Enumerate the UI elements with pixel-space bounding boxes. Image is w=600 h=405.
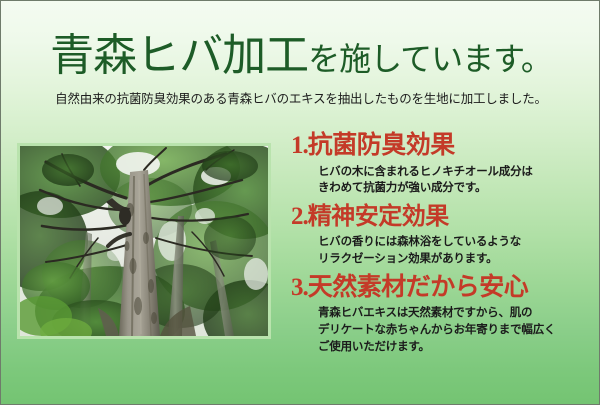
benefit-heading: 2.精神安定効果 <box>291 202 591 232</box>
benefit-body: 青森ヒバエキスは天然素材ですから、肌の デリケートな赤ちゃんからお年寄りまで幅広… <box>318 305 591 355</box>
list-item: 2.精神安定効果 ヒバの香りには森林浴をしているような リラクゼーション効果があ… <box>291 202 591 268</box>
forest-canopy-illustration <box>20 146 268 336</box>
benefit-body-line: デリケートな赤ちゃんからお年寄りまで幅広く <box>318 322 591 339</box>
benefit-body-line: きわめて抗菌力が強い成分です。 <box>318 180 591 197</box>
benefits-list: 1.抗菌防臭効果 ヒバの木に含まれるヒノキチオール成分は きわめて抗菌力が強い成… <box>291 131 591 360</box>
page-title: 青森ヒバ加工を施しています。 <box>1 34 600 78</box>
benefit-body-line: ヒバの香りには森林浴をしているような <box>318 234 591 251</box>
benefit-number: 1. <box>291 132 308 159</box>
page-subtitle: 自然由来の抗菌防臭効果のある青森ヒバのエキスを抽出したものを生地に加工しました。 <box>1 88 600 107</box>
benefit-title: 精神安定効果 <box>308 204 449 230</box>
benefit-number: 3. <box>291 274 308 301</box>
promotional-poster: 青森ヒバ加工を施しています。 自然由来の抗菌防臭効果のある青森ヒバのエキスを抽出… <box>0 0 600 405</box>
benefit-heading: 3.天然素材だから安心 <box>291 273 591 303</box>
benefit-title: 抗菌防臭効果 <box>308 132 455 159</box>
benefit-heading: 1.抗菌防臭効果 <box>291 131 591 161</box>
benefit-body-line: リラクゼーション効果があります。 <box>318 251 591 268</box>
list-item: 1.抗菌防臭効果 ヒバの木に含まれるヒノキチオール成分は きわめて抗菌力が強い成… <box>291 131 591 197</box>
benefit-body-line: ご使用いただけます。 <box>318 339 591 356</box>
benefit-body: ヒバの香りには森林浴をしているような リラクゼーション効果があります。 <box>318 234 591 267</box>
benefit-body: ヒバの木に含まれるヒノキチオール成分は きわめて抗菌力が強い成分です。 <box>318 164 591 197</box>
benefit-number: 2. <box>291 203 308 230</box>
list-item: 3.天然素材だから安心 青森ヒバエキスは天然素材ですから、肌の デリケートな赤ち… <box>291 273 591 356</box>
benefit-title: 天然素材だから安心 <box>308 274 529 301</box>
hiba-forest-photo <box>20 146 268 336</box>
title-main-text: 青森ヒバ加工 <box>50 31 308 80</box>
title-tail-text: を施しています。 <box>308 41 552 77</box>
benefit-body-line: 青森ヒバエキスは天然素材ですから、肌の <box>318 305 591 322</box>
hiba-forest-photo-frame <box>17 143 271 339</box>
benefit-body-line: ヒバの木に含まれるヒノキチオール成分は <box>318 164 591 181</box>
